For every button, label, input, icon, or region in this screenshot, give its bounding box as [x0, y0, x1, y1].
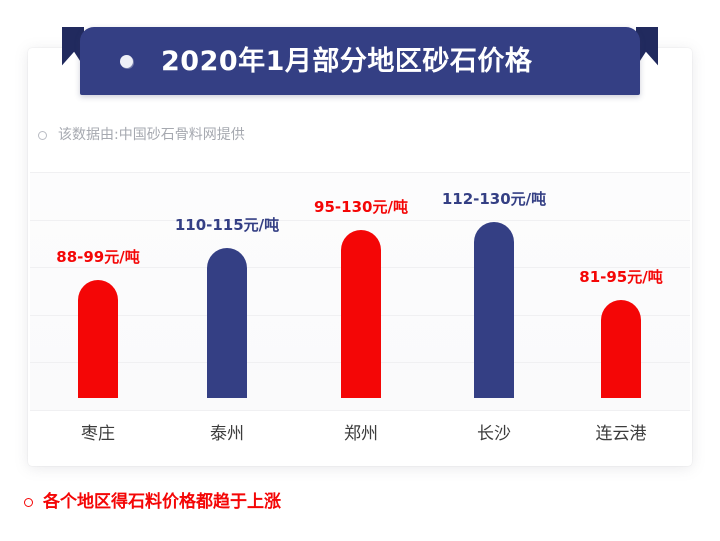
- gridline: [30, 410, 690, 411]
- filled-dot-icon: [120, 55, 133, 68]
- footnote-label: 各个地区得石料价格都趋于上涨: [43, 494, 281, 511]
- source-note-label: 该数据由:中国砂石骨料网提供: [58, 128, 245, 142]
- axis-category-label: 郑州: [344, 426, 378, 443]
- axis-category-label: 泰州: [210, 426, 244, 443]
- page-title: 2020年1月部分地区砂石价格: [161, 48, 532, 75]
- hollow-circle-icon: [38, 131, 47, 140]
- gridline: [30, 267, 690, 268]
- plot-area: [30, 172, 690, 410]
- title-banner: 2020年1月部分地区砂石价格: [80, 27, 640, 95]
- source-note: 该数据由:中国砂石骨料网提供: [38, 128, 245, 142]
- gridline: [30, 172, 690, 173]
- hollow-circle-icon: [24, 498, 33, 507]
- title-banner-body: 2020年1月部分地区砂石价格: [80, 27, 640, 95]
- axis-category-label: 连云港: [596, 426, 647, 443]
- axis-category-label: 枣庄: [81, 426, 115, 443]
- axis-category-label: 长沙: [477, 426, 511, 443]
- gridline: [30, 220, 690, 221]
- category-axis: 枣庄泰州郑州长沙连云港: [0, 418, 720, 448]
- gridline: [30, 362, 690, 363]
- footnote: 各个地区得石料价格都趋于上涨: [24, 494, 281, 511]
- gridline: [30, 315, 690, 316]
